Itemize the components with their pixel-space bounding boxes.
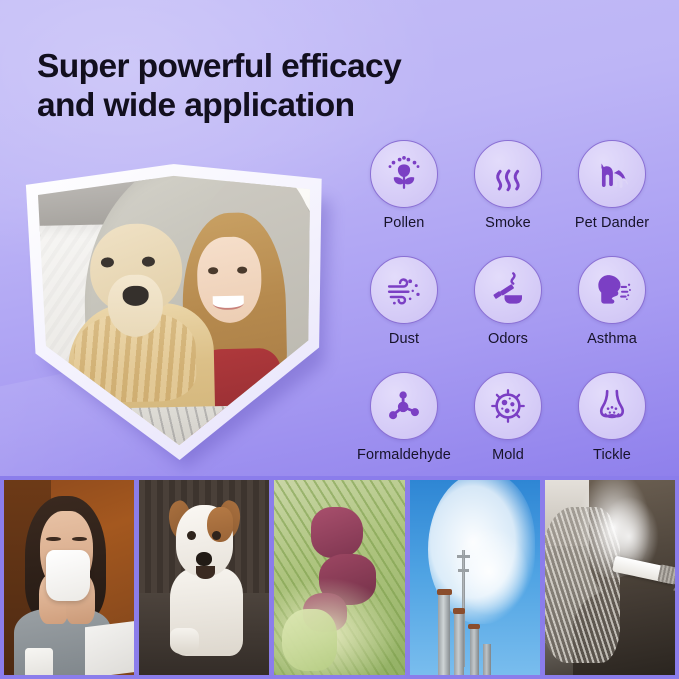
page-title: Super powerful efficacy and wide applica… xyxy=(37,47,507,125)
icon-row-2: Dust Odors xyxy=(352,256,664,347)
icon-cell-odors[interactable]: Odors xyxy=(456,256,560,347)
icon-cell-formaldehyde[interactable]: Formaldehyde xyxy=(352,372,456,463)
icon-label: Tickle xyxy=(593,447,631,463)
product-feature-banner: Super powerful efficacy and wide applica… xyxy=(0,0,679,679)
molecule-icon xyxy=(370,372,438,440)
headline-line-1: Super powerful efficacy xyxy=(37,48,401,85)
row-spacer xyxy=(352,347,664,372)
icon-cell-pet-dander[interactable]: Pet Dander xyxy=(560,140,664,231)
mold-spore-icon xyxy=(474,372,542,440)
photo-dog-on-sofa xyxy=(139,480,269,675)
icon-cell-mold[interactable]: Mold xyxy=(456,372,560,463)
icon-label: Formaldehyde xyxy=(357,447,451,463)
row-spacer xyxy=(352,231,664,256)
photo-factory-smoke xyxy=(410,480,540,675)
icon-label: Pollen xyxy=(384,215,425,231)
photo-cigarette-smoke xyxy=(545,480,675,675)
cigarette-ashtray-icon xyxy=(474,256,542,324)
icon-cell-asthma[interactable]: Asthma xyxy=(560,256,664,347)
icon-label: Smoke xyxy=(485,215,531,231)
head-coughing-icon xyxy=(578,256,646,324)
protection-shield xyxy=(14,158,344,468)
icon-cell-smoke[interactable]: Smoke xyxy=(456,140,560,231)
icon-label: Pet Dander xyxy=(575,215,649,231)
nose-icon xyxy=(578,372,646,440)
icon-cell-dust[interactable]: Dust xyxy=(352,256,456,347)
icon-row-1: Pollen Smoke xyxy=(352,140,664,231)
icon-cell-tickle[interactable]: Tickle xyxy=(560,372,664,463)
wind-dust-icon xyxy=(370,256,438,324)
dog-cat-icon xyxy=(578,140,646,208)
icon-label: Mold xyxy=(492,447,524,463)
icon-label: Dust xyxy=(389,331,419,347)
icon-cell-pollen[interactable]: Pollen xyxy=(352,140,456,231)
smoke-waves-icon xyxy=(474,140,542,208)
headline-line-2: and wide application xyxy=(37,86,507,125)
photo-strip xyxy=(0,476,679,679)
icon-label: Odors xyxy=(488,331,528,347)
photo-sneezing-woman xyxy=(4,480,134,675)
icon-row-3: Formaldehyde xyxy=(352,372,664,463)
icon-label: Asthma xyxy=(587,331,637,347)
flower-pollen-icon xyxy=(370,140,438,208)
allergen-icon-grid: Pollen Smoke xyxy=(352,140,664,463)
photo-pollen-plant xyxy=(274,480,404,675)
